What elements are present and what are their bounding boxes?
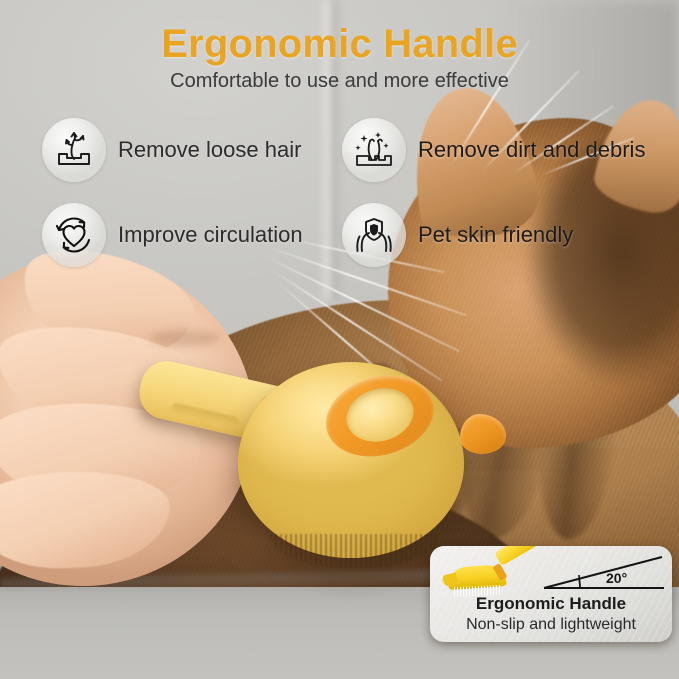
feature-label: Remove dirt and debris [418, 137, 645, 163]
feature-label: Remove loose hair [118, 137, 301, 163]
ergonomic-handle-callout-card: 20° Ergonomic Handle Non-slip and lightw… [430, 546, 672, 642]
heart-circulation-icon [42, 203, 106, 267]
feature-label: Improve circulation [118, 222, 303, 248]
callout-subtitle: Non-slip and lightweight [430, 616, 672, 634]
dirt-debris-sparkle-icon [342, 118, 406, 182]
feature-item-pet-skin-friendly: Pet skin friendly [342, 203, 573, 267]
brush-angle-illustration: 20° [430, 546, 672, 594]
feature-item-improve-circulation: Improve circulation [42, 203, 303, 267]
page-subtitle: Comfortable to use and more effective [0, 70, 679, 93]
angle-value-label: 20° [606, 570, 627, 586]
angle-diagram-icon [540, 548, 670, 594]
feature-list: Remove loose hair Remove dirt and debris [0, 110, 679, 282]
hair-follicle-removal-icon [42, 118, 106, 182]
product-banner: Ergonomic Handle Comfortable to use and … [0, 0, 679, 679]
feature-label: Pet skin friendly [418, 222, 573, 248]
hands-shield-icon [342, 203, 406, 267]
brush-bristles [270, 534, 440, 568]
feature-item-remove-dirt-and-debris: Remove dirt and debris [342, 118, 645, 182]
page-title: Ergonomic Handle [0, 22, 679, 67]
callout-title: Ergonomic Handle [430, 594, 672, 614]
feature-item-remove-loose-hair: Remove loose hair [42, 118, 301, 182]
